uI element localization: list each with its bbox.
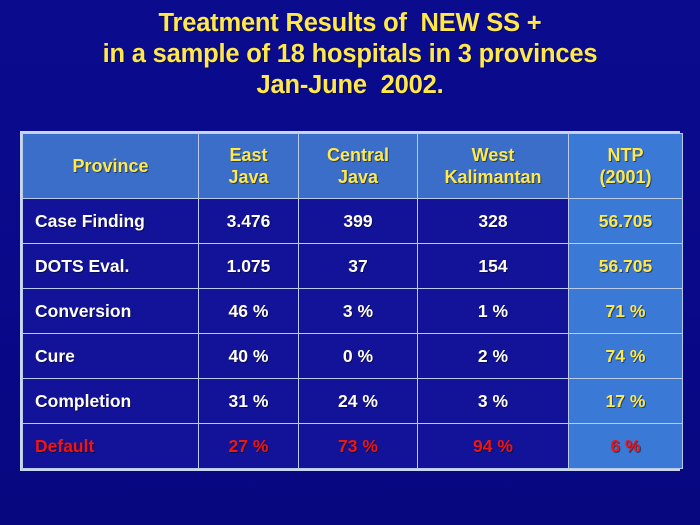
table-column-header-3: WestKalimantan — [418, 134, 569, 199]
table-row: DOTS Eval.1.0753715456.705 — [23, 244, 683, 289]
column-header-label: Central — [299, 144, 417, 166]
cell-ntp: 6 % — [569, 424, 683, 469]
table-header: ProvinceEastJavaCentralJavaWestKalimanta… — [23, 134, 683, 199]
row-label: Case Finding — [23, 199, 199, 244]
cell-central_java: 0 % — [299, 334, 418, 379]
cell-west_kalimantan: 1 % — [418, 289, 569, 334]
column-header-sublabel: (2001) — [569, 166, 682, 188]
table-column-header-2: CentralJava — [299, 134, 418, 199]
results-table-container: ProvinceEastJavaCentralJavaWestKalimanta… — [20, 131, 680, 471]
title-line-3: Jan-June 2002. — [0, 70, 700, 101]
cell-ntp: 56.705 — [569, 199, 683, 244]
slide-canvas: Treatment Results of NEW SS + in a sampl… — [0, 0, 700, 525]
row-label: Default — [23, 424, 199, 469]
row-label: DOTS Eval. — [23, 244, 199, 289]
table-row: Default27 %73 %94 %6 % — [23, 424, 683, 469]
cell-west_kalimantan: 94 % — [418, 424, 569, 469]
table-header-row: ProvinceEastJavaCentralJavaWestKalimanta… — [23, 134, 683, 199]
cell-ntp: 74 % — [569, 334, 683, 379]
cell-central_java: 399 — [299, 199, 418, 244]
cell-west_kalimantan: 154 — [418, 244, 569, 289]
table-body: Case Finding3.47639932856.705DOTS Eval.1… — [23, 199, 683, 469]
cell-east_java: 46 % — [199, 289, 299, 334]
cell-central_java: 73 % — [299, 424, 418, 469]
row-label: Completion — [23, 379, 199, 424]
row-label: Conversion — [23, 289, 199, 334]
cell-central_java: 24 % — [299, 379, 418, 424]
cell-west_kalimantan: 328 — [418, 199, 569, 244]
column-header-label: NTP — [569, 144, 682, 166]
cell-ntp: 17 % — [569, 379, 683, 424]
cell-east_java: 27 % — [199, 424, 299, 469]
cell-central_java: 3 % — [299, 289, 418, 334]
cell-ntp: 56.705 — [569, 244, 683, 289]
cell-central_java: 37 — [299, 244, 418, 289]
title-line-2: in a sample of 18 hospitals in 3 provinc… — [0, 39, 700, 70]
cell-west_kalimantan: 3 % — [418, 379, 569, 424]
table-column-header-0: Province — [23, 134, 199, 199]
table-row: Completion31 %24 %3 %17 % — [23, 379, 683, 424]
table-row: Cure40 %0 %2 %74 % — [23, 334, 683, 379]
title-line-1: Treatment Results of NEW SS + — [0, 8, 700, 39]
column-header-label: East — [199, 144, 298, 166]
table-column-header-1: EastJava — [199, 134, 299, 199]
table-row: Conversion46 %3 %1 %71 % — [23, 289, 683, 334]
cell-east_java: 1.075 — [199, 244, 299, 289]
slide-title: Treatment Results of NEW SS + in a sampl… — [0, 8, 700, 101]
column-header-sublabel: Java — [199, 166, 298, 188]
column-header-sublabel: Java — [299, 166, 417, 188]
cell-ntp: 71 % — [569, 289, 683, 334]
cell-east_java: 31 % — [199, 379, 299, 424]
cell-east_java: 3.476 — [199, 199, 299, 244]
column-header-sublabel: Kalimantan — [418, 166, 568, 188]
cell-east_java: 40 % — [199, 334, 299, 379]
column-header-label: West — [418, 144, 568, 166]
row-label: Cure — [23, 334, 199, 379]
column-header-label: Province — [23, 155, 198, 177]
table-column-header-4: NTP(2001) — [569, 134, 683, 199]
cell-west_kalimantan: 2 % — [418, 334, 569, 379]
table-row: Case Finding3.47639932856.705 — [23, 199, 683, 244]
results-table: ProvinceEastJavaCentralJavaWestKalimanta… — [22, 133, 683, 469]
